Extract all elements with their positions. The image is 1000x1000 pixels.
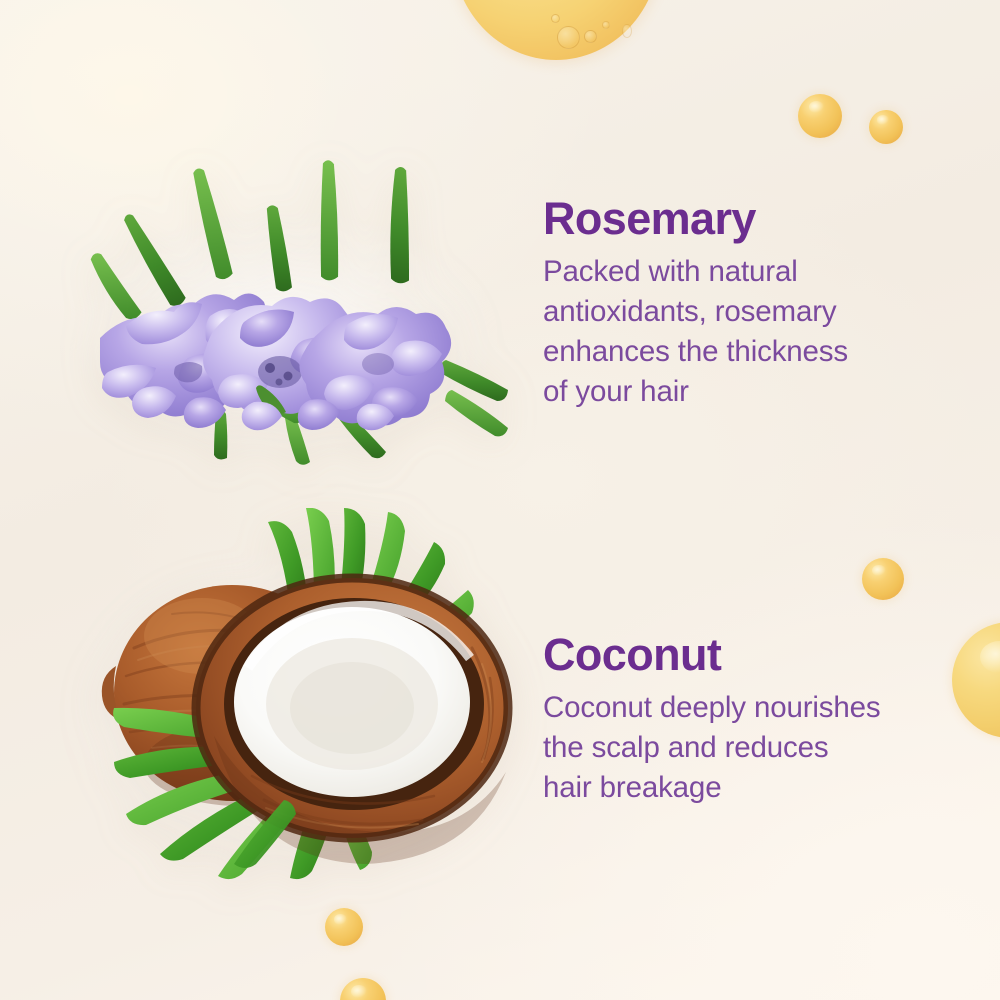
rosemary-flowers-photo [48,150,518,470]
rosemary-body: Packed with natural antioxidants, rosema… [543,252,943,412]
coconut-body-line: hair breakage [543,768,963,808]
oil-droplet-mid-right-icon [862,558,904,600]
coconut-illustration [52,508,532,880]
oil-droplet-bottom-1-icon [325,908,363,946]
rosemary-copy-block: Rosemary Packed with natural antioxidant… [543,196,943,412]
rosemary-heading: Rosemary [543,196,943,242]
droplet-bubble-icon [551,14,560,23]
rosemary-body-line: antioxidants, rosemary [543,292,943,332]
droplet-bubble-icon [602,21,610,29]
infographic-poster: Rosemary Packed with natural antioxidant… [0,0,1000,1000]
rosemary-body-line: of your hair [543,372,943,412]
coconut-body-line: Coconut deeply nourishes [543,688,963,728]
rosemary-body-line: Packed with natural [543,252,943,292]
droplet-bubble-icon [622,24,632,38]
oil-droplet-top-right-2-icon [869,110,903,144]
coconut-heading: Coconut [543,632,963,678]
droplet-bubble-icon [584,30,597,43]
coconut-body: Coconut deeply nourishes the scalp and r… [543,688,963,808]
oil-droplet-top-right-1-icon [798,94,842,138]
rosemary-illustration [48,150,518,470]
coconut-halved-photo [52,508,532,880]
droplet-bubble-icon [557,26,580,49]
rosemary-body-line: enhances the thickness [543,332,943,372]
coconut-body-line: the scalp and reduces [543,728,963,768]
coconut-copy-block: Coconut Coconut deeply nourishes the sca… [543,632,963,808]
